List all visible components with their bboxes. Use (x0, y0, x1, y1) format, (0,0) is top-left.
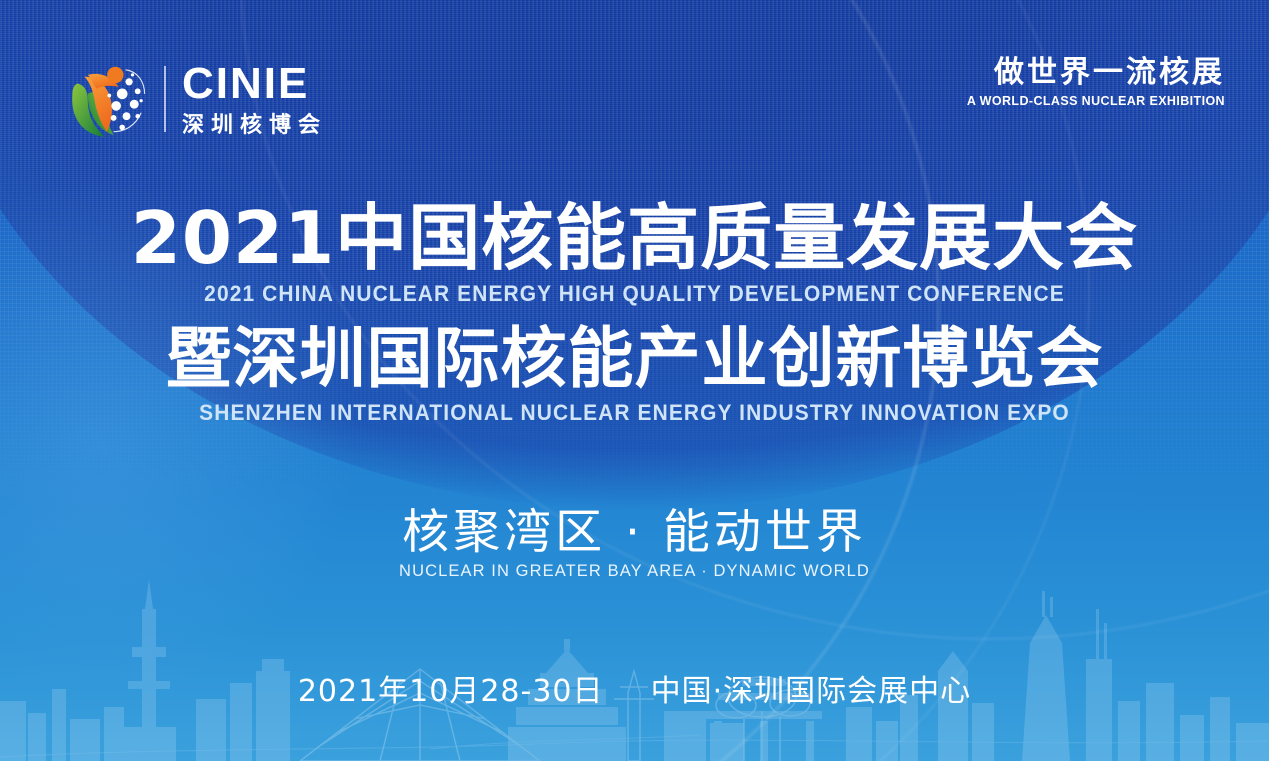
cinie-atom-leaf-logo-icon (62, 56, 148, 142)
brand-text-block: CINIE 深圳核博会 (182, 62, 327, 137)
brand-chinese-name: 深圳核博会 (182, 115, 327, 137)
slogan-chinese: 核聚湾区 · 能动世界 (0, 508, 1269, 557)
event-venue: 中国·深圳国际会展中心 (651, 674, 972, 709)
brand-lockup: CINIE 深圳核博会 (62, 56, 327, 142)
tagline-chinese: 做世界一流核展 (967, 57, 1225, 89)
tagline-english: A WORLD-CLASS NUCLEAR EXHIBITION (967, 94, 1225, 108)
title-line1-chinese: 2021中国核能高质量发展大会 (0, 202, 1269, 275)
title-line1-english: 2021 CHINA NUCLEAR ENERGY HIGH QUALITY D… (44, 281, 1224, 307)
tagline-block: 做世界一流核展 A WORLD-CLASS NUCLEAR EXHIBITION (967, 57, 1225, 108)
title-line2-english: SHENZHEN INTERNATIONAL NUCLEAR ENERGY IN… (44, 400, 1224, 426)
title-line2-chinese: 暨深圳国际核能产业创新博览会 (0, 325, 1269, 392)
slogan-english: NUCLEAR IN GREATER BAY AREA · DYNAMIC WO… (0, 562, 1269, 581)
main-title-block: 2021中国核能高质量发展大会 2021 CHINA NUCLEAR ENERG… (0, 202, 1269, 426)
conference-banner: CINIE 深圳核博会 做世界一流核展 A WORLD-CLASS NUCLEA… (0, 0, 1269, 761)
event-date: 2021年10月28-30日 (298, 674, 604, 709)
city-skyline-illustration (0, 551, 1269, 761)
brand-acronym: CINIE (182, 62, 327, 106)
banner-header: CINIE 深圳核博会 做世界一流核展 A WORLD-CLASS NUCLEA… (0, 0, 1269, 165)
event-details: 2021年10月28-30日 中国·深圳国际会展中心 (0, 666, 1269, 710)
slogan-block: 核聚湾区 · 能动世界 NUCLEAR IN GREATER BAY AREA … (0, 508, 1269, 581)
brand-divider (164, 66, 166, 132)
